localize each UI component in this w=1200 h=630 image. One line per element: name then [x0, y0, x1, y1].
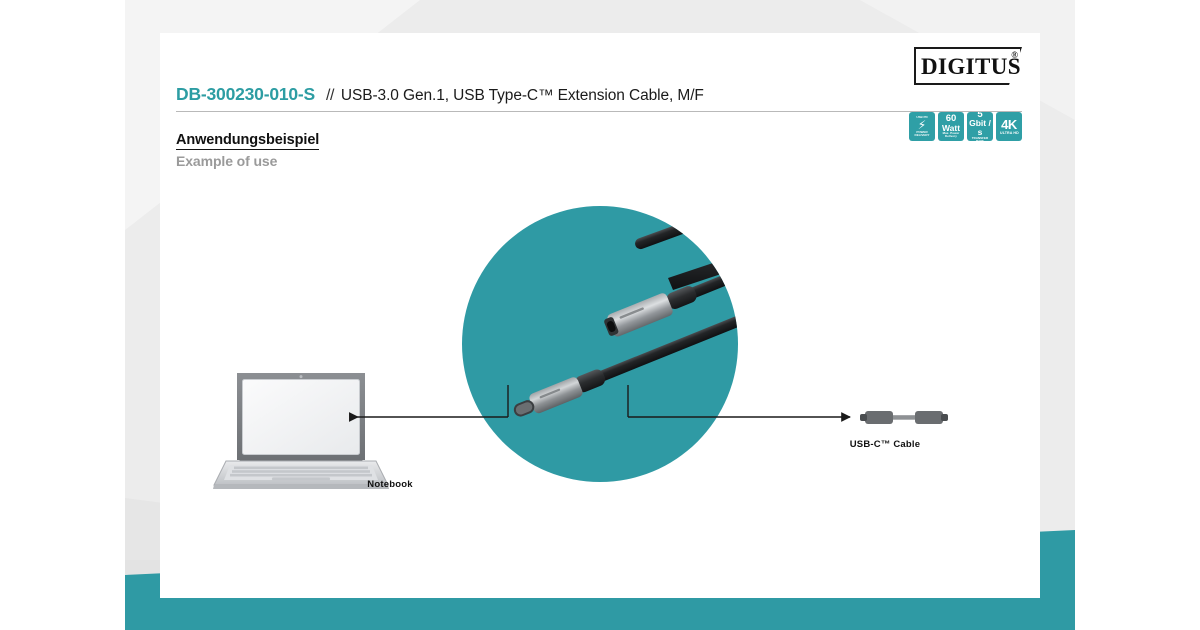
application-diagram: Notebook USB-C™ Cable: [160, 33, 1040, 598]
usb-c-cable-label: USB-C™ Cable: [820, 439, 950, 450]
notebook-illustration: [213, 373, 389, 489]
notebook-label: Notebook: [335, 479, 445, 490]
leader-lines: [350, 385, 850, 417]
product-sheet-card: DIGITUS ® DB-300230-010-S // USB-3.0 Gen…: [160, 33, 1040, 598]
diagram-vector-layer: [160, 33, 1040, 598]
screenshot-canvas: DIGITUS ® DB-300230-010-S // USB-3.0 Gen…: [0, 0, 1200, 630]
usb-c-cable-illustration: [860, 411, 948, 424]
